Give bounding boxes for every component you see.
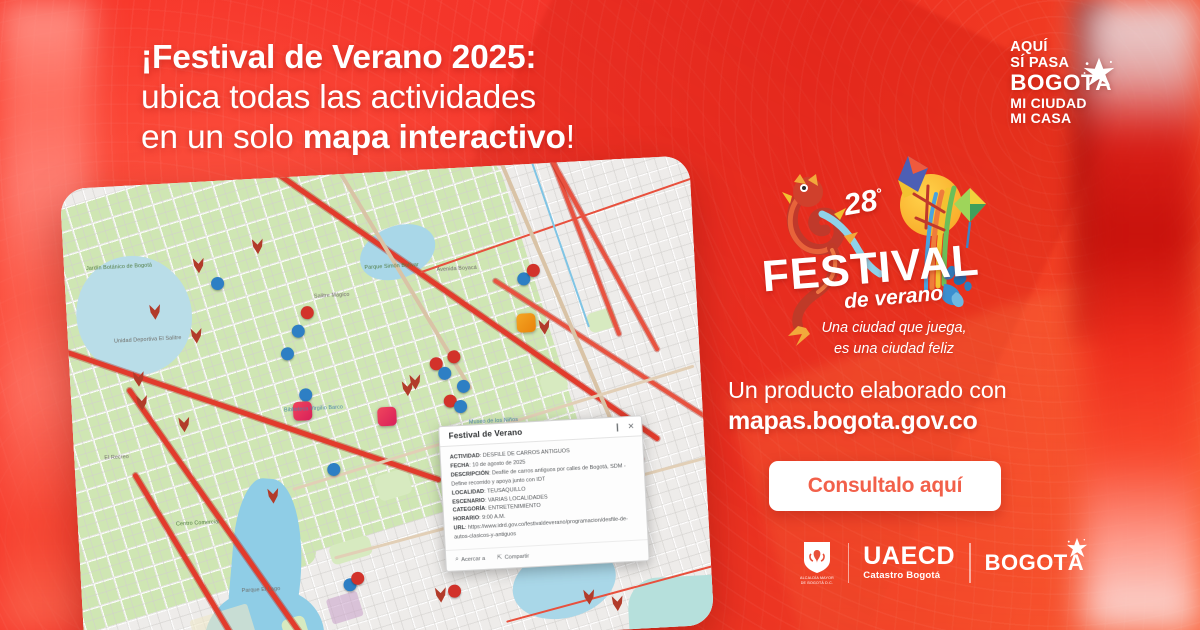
- map-marker[interactable]: [300, 306, 314, 320]
- headline-line-2: ubica todas las actividades: [141, 78, 741, 118]
- logo-divider: [848, 543, 849, 583]
- map-marker[interactable]: [408, 376, 422, 390]
- headline-line-3-normal: en un solo: [141, 119, 303, 156]
- headline-line-1: ¡Festival de Verano 2025:: [141, 38, 741, 78]
- uaecd-logo: UAECD Catastro Bogotá: [863, 544, 955, 581]
- logo-divider: [969, 543, 970, 583]
- pin-marker-icon: [448, 584, 462, 598]
- kite-icon-2: [898, 156, 928, 198]
- popup-attribute-key: DESCRIPCIÓN: [451, 470, 489, 478]
- map-marker[interactable]: [192, 260, 206, 274]
- festival-logo: 28° FESTIVAL de verano Una ciudad que ju…: [748, 152, 1038, 352]
- map-marker[interactable]: [327, 463, 341, 477]
- star-icon: [1066, 537, 1088, 559]
- cta-label: Consultalo aquí: [808, 474, 963, 498]
- cluster-marker-icon: [516, 313, 536, 333]
- pin-marker-icon: [438, 366, 452, 380]
- popup-link-label: Acercar a: [461, 555, 485, 562]
- map-marker[interactable]: [291, 324, 305, 338]
- pin-marker-icon: [457, 379, 471, 393]
- map-marker[interactable]: [454, 400, 468, 414]
- popup-attribute-key: LOCALIDAD: [452, 489, 485, 497]
- map-marker[interactable]: [211, 277, 225, 291]
- popup-attribute-key: URL: [454, 525, 466, 532]
- popup-attribute-key: HORARIO: [453, 516, 479, 523]
- map-marker[interactable]: [251, 240, 265, 254]
- popup-attribute-key: ESCENARIO: [452, 497, 485, 505]
- pin-marker-icon: [351, 571, 365, 585]
- pin-marker-icon: [291, 324, 305, 338]
- map-marker[interactable]: [351, 571, 365, 585]
- map-marker[interactable]: [519, 316, 533, 330]
- map-marker[interactable]: [526, 264, 540, 278]
- brand-line-1: AQUÍ: [1010, 40, 1112, 56]
- brand-line-5: MI CASA: [1010, 111, 1112, 126]
- map-marker[interactable]: [190, 330, 204, 344]
- map-marker[interactable]: [132, 373, 146, 387]
- map-marker[interactable]: [582, 591, 596, 605]
- popup-attribute-list: ACTIVIDAD: DESFILE DE CARROS ANTIGUOSFEC…: [440, 436, 647, 546]
- popup-attribute-value: : ENTRETENIMIENTO: [485, 503, 541, 512]
- pin-marker-icon: [281, 347, 295, 361]
- bogota-shield-icon: [802, 540, 832, 574]
- promo-banner: ¡Festival de Verano 2025: ubica todas la…: [0, 0, 1200, 630]
- footer-logo-bar: ALCALDÍA MAYOR DE BOGOTÁ D.C. UAECD Cata…: [800, 540, 1084, 585]
- zoom-to-link[interactable]: ⌕Acercar a: [455, 555, 485, 564]
- map-marker[interactable]: [266, 490, 280, 504]
- festival-tagline: Una ciudad que juega, es una ciudad feli…: [756, 318, 1032, 359]
- festival-edition: 28°: [841, 183, 885, 223]
- uaecd-name: UAECD: [863, 544, 955, 569]
- product-credit: Un producto elaborado con mapas.bogota.g…: [728, 377, 1007, 436]
- brand-line-4: MI CIUDAD: [1010, 96, 1112, 111]
- popup-attribute-value: : TEUSAQUILLO: [484, 486, 526, 494]
- map-marker[interactable]: [177, 419, 191, 433]
- consult-here-button[interactable]: Consultalo aquí: [769, 461, 1001, 511]
- map-marker[interactable]: [538, 321, 552, 335]
- map-marker[interactable]: [438, 366, 452, 380]
- star-icon: [1082, 56, 1116, 90]
- close-icon[interactable]: ✕: [627, 422, 634, 430]
- popup-attribute-key: FECHA: [450, 463, 469, 470]
- pin-marker-icon: [211, 277, 225, 291]
- festival-tagline-line-2: es una ciudad feliz: [834, 341, 954, 357]
- headline-line-3: en un solo mapa interactivo!: [141, 118, 741, 158]
- dock-icon[interactable]: ❙: [614, 423, 621, 431]
- map-marker[interactable]: [447, 350, 461, 364]
- map-marker[interactable]: [448, 584, 462, 598]
- headline-line-3-bold: mapa interactivo: [303, 119, 566, 156]
- share-icon: ⇱: [497, 554, 502, 561]
- map-marker[interactable]: [281, 347, 295, 361]
- pin-marker-icon: [447, 350, 461, 364]
- map-marker[interactable]: [135, 397, 149, 411]
- popup-link-label: Compartir: [504, 553, 529, 560]
- map-marker[interactable]: [148, 306, 162, 320]
- map-screenshot-card[interactable]: Jardín Botánico de BogotáUnidad Deportiv…: [60, 155, 714, 630]
- map-canvas[interactable]: Jardín Botánico de BogotáUnidad Deportiv…: [60, 155, 714, 630]
- map-marker[interactable]: [380, 410, 394, 424]
- map-feature-popup[interactable]: Festival de Verano ❙ ✕ ACTIVIDAD: DESFIL…: [438, 415, 650, 572]
- alcaldia-logo: ALCALDÍA MAYOR DE BOGOTÁ D.C.: [800, 540, 834, 585]
- product-credit-line-1: Un producto elaborado con: [728, 377, 1007, 404]
- share-link[interactable]: ⇱Compartir: [497, 553, 529, 562]
- map-marker[interactable]: [611, 597, 625, 611]
- pin-marker-icon: [299, 388, 313, 402]
- headline: ¡Festival de Verano 2025: ubica todas la…: [141, 38, 741, 158]
- popup-title: Festival de Verano: [448, 423, 607, 441]
- popup-attribute-value: : 9:00 A.M.: [479, 514, 506, 521]
- zoom-to-icon: ⌕: [455, 556, 459, 563]
- pin-marker-icon: [327, 463, 341, 477]
- product-credit-url: mapas.bogota.gov.co: [728, 407, 1007, 436]
- pin-marker-icon: [454, 400, 468, 414]
- bogota-city-brand: AQUÍ SÍ PASA BOGOTÁ MI CIUDAD MI CASA: [1010, 40, 1112, 126]
- cluster-marker-icon: [377, 407, 397, 427]
- popup-attribute-key: ACTIVIDAD: [450, 453, 480, 461]
- map-marker[interactable]: [434, 589, 448, 603]
- festival-tagline-line-1: Una ciudad que juega,: [821, 320, 966, 336]
- bogota-logo: BOGOTÁ: [985, 550, 1085, 576]
- map-marker[interactable]: [457, 379, 471, 393]
- map-marker[interactable]: [299, 388, 313, 402]
- alcaldia-caption: ALCALDÍA MAYOR DE BOGOTÁ D.C.: [800, 576, 834, 585]
- pin-marker-icon: [526, 264, 540, 278]
- uaecd-sub: Catastro Bogotá: [863, 571, 955, 581]
- map-label: El Recreo: [104, 454, 129, 462]
- pin-marker-icon: [300, 306, 314, 320]
- popup-attribute-key: CATEGORÍA: [453, 506, 486, 514]
- headline-line-3-end: !: [566, 119, 575, 156]
